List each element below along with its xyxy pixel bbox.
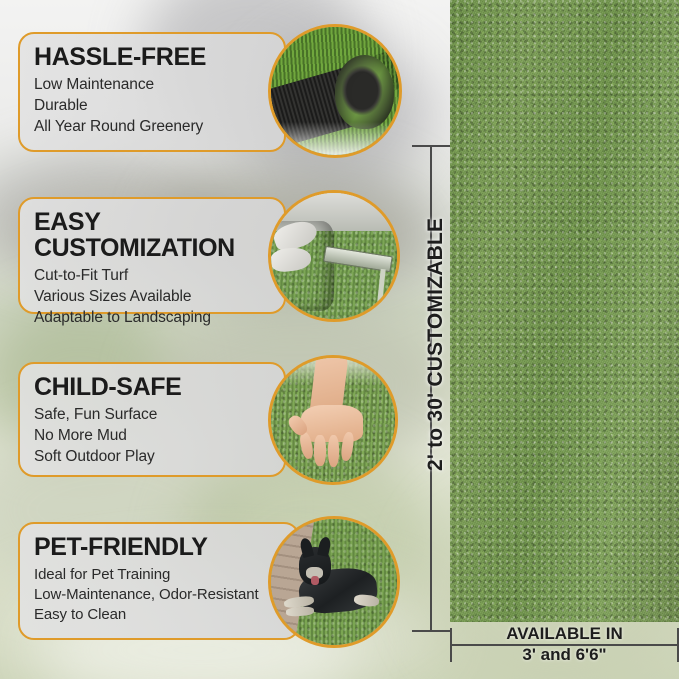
feature-bullet: No More Mud	[34, 426, 272, 447]
turf-installation-gloves-level-photo	[268, 190, 400, 322]
feature-title: EASY CUSTOMIZATION	[34, 209, 272, 261]
feature-bullet: Various Sizes Available	[34, 287, 272, 308]
rolled-turf-sample-photo	[268, 24, 402, 158]
feature-bullet: Ideal for Pet Training	[34, 565, 286, 585]
feature-bullet: All Year Round Greenery	[34, 117, 272, 138]
length-measure-tick-bottom	[412, 630, 450, 632]
photo-content	[271, 193, 397, 319]
turf-product-strip	[450, 0, 679, 622]
dog-lying-on-turf-photo	[268, 516, 400, 648]
width-measure-label-line1: AVAILABLE IN	[506, 624, 622, 643]
child-finger	[314, 435, 325, 466]
turf-roll-edge	[335, 55, 394, 129]
product-feature-infographic: 2' to 30' CUSTOMIZABLE AVAILABLE IN 3' a…	[0, 0, 679, 679]
feature-bullet: Low Maintenance	[34, 75, 272, 96]
width-measure-group: AVAILABLE IN 3' and 6'6"	[450, 624, 679, 679]
photo-content	[271, 358, 395, 482]
feature-title: HASSLE-FREE	[34, 44, 272, 70]
photo-content	[271, 27, 399, 155]
feature-card-pet-friendly: PET-FRIENDLY Ideal for Pet Training Low-…	[18, 522, 300, 640]
width-measure-label-line2: 3' and 6'6"	[450, 645, 679, 665]
dog-ear	[317, 536, 332, 557]
dog-paw	[286, 606, 314, 617]
feature-bullet: Soft Outdoor Play	[34, 447, 272, 468]
photo-content	[271, 519, 397, 645]
dog-tongue	[311, 576, 319, 585]
child-hand-on-turf-photo	[268, 355, 398, 485]
child-finger	[328, 435, 339, 467]
feature-card-easy-customization: EASY CUSTOMIZATION Cut-to-Fit Turf Vario…	[18, 197, 286, 314]
feature-bullet: Cut-to-Fit Turf	[34, 266, 272, 287]
feature-card-hassle-free: HASSLE-FREE Low Maintenance Durable All …	[18, 32, 286, 152]
feature-bullet: Durable	[34, 96, 272, 117]
feature-bullet: Low-Maintenance, Odor-Resistant	[34, 585, 286, 605]
feature-bullet: Safe, Fun Surface	[34, 405, 272, 426]
photo-vignette	[271, 122, 399, 155]
feature-card-child-safe: CHILD-SAFE Safe, Fun Surface No More Mud…	[18, 362, 286, 477]
feature-title: PET-FRIENDLY	[34, 534, 286, 560]
feature-bullet: Adaptable to Landscaping	[34, 308, 272, 329]
length-measure-label: 2' to 30' CUSTOMIZABLE	[424, 218, 448, 471]
width-measure-label: AVAILABLE IN 3' and 6'6"	[450, 624, 679, 665]
feature-bullet: Easy to Clean	[34, 605, 286, 625]
feature-title: CHILD-SAFE	[34, 374, 272, 400]
